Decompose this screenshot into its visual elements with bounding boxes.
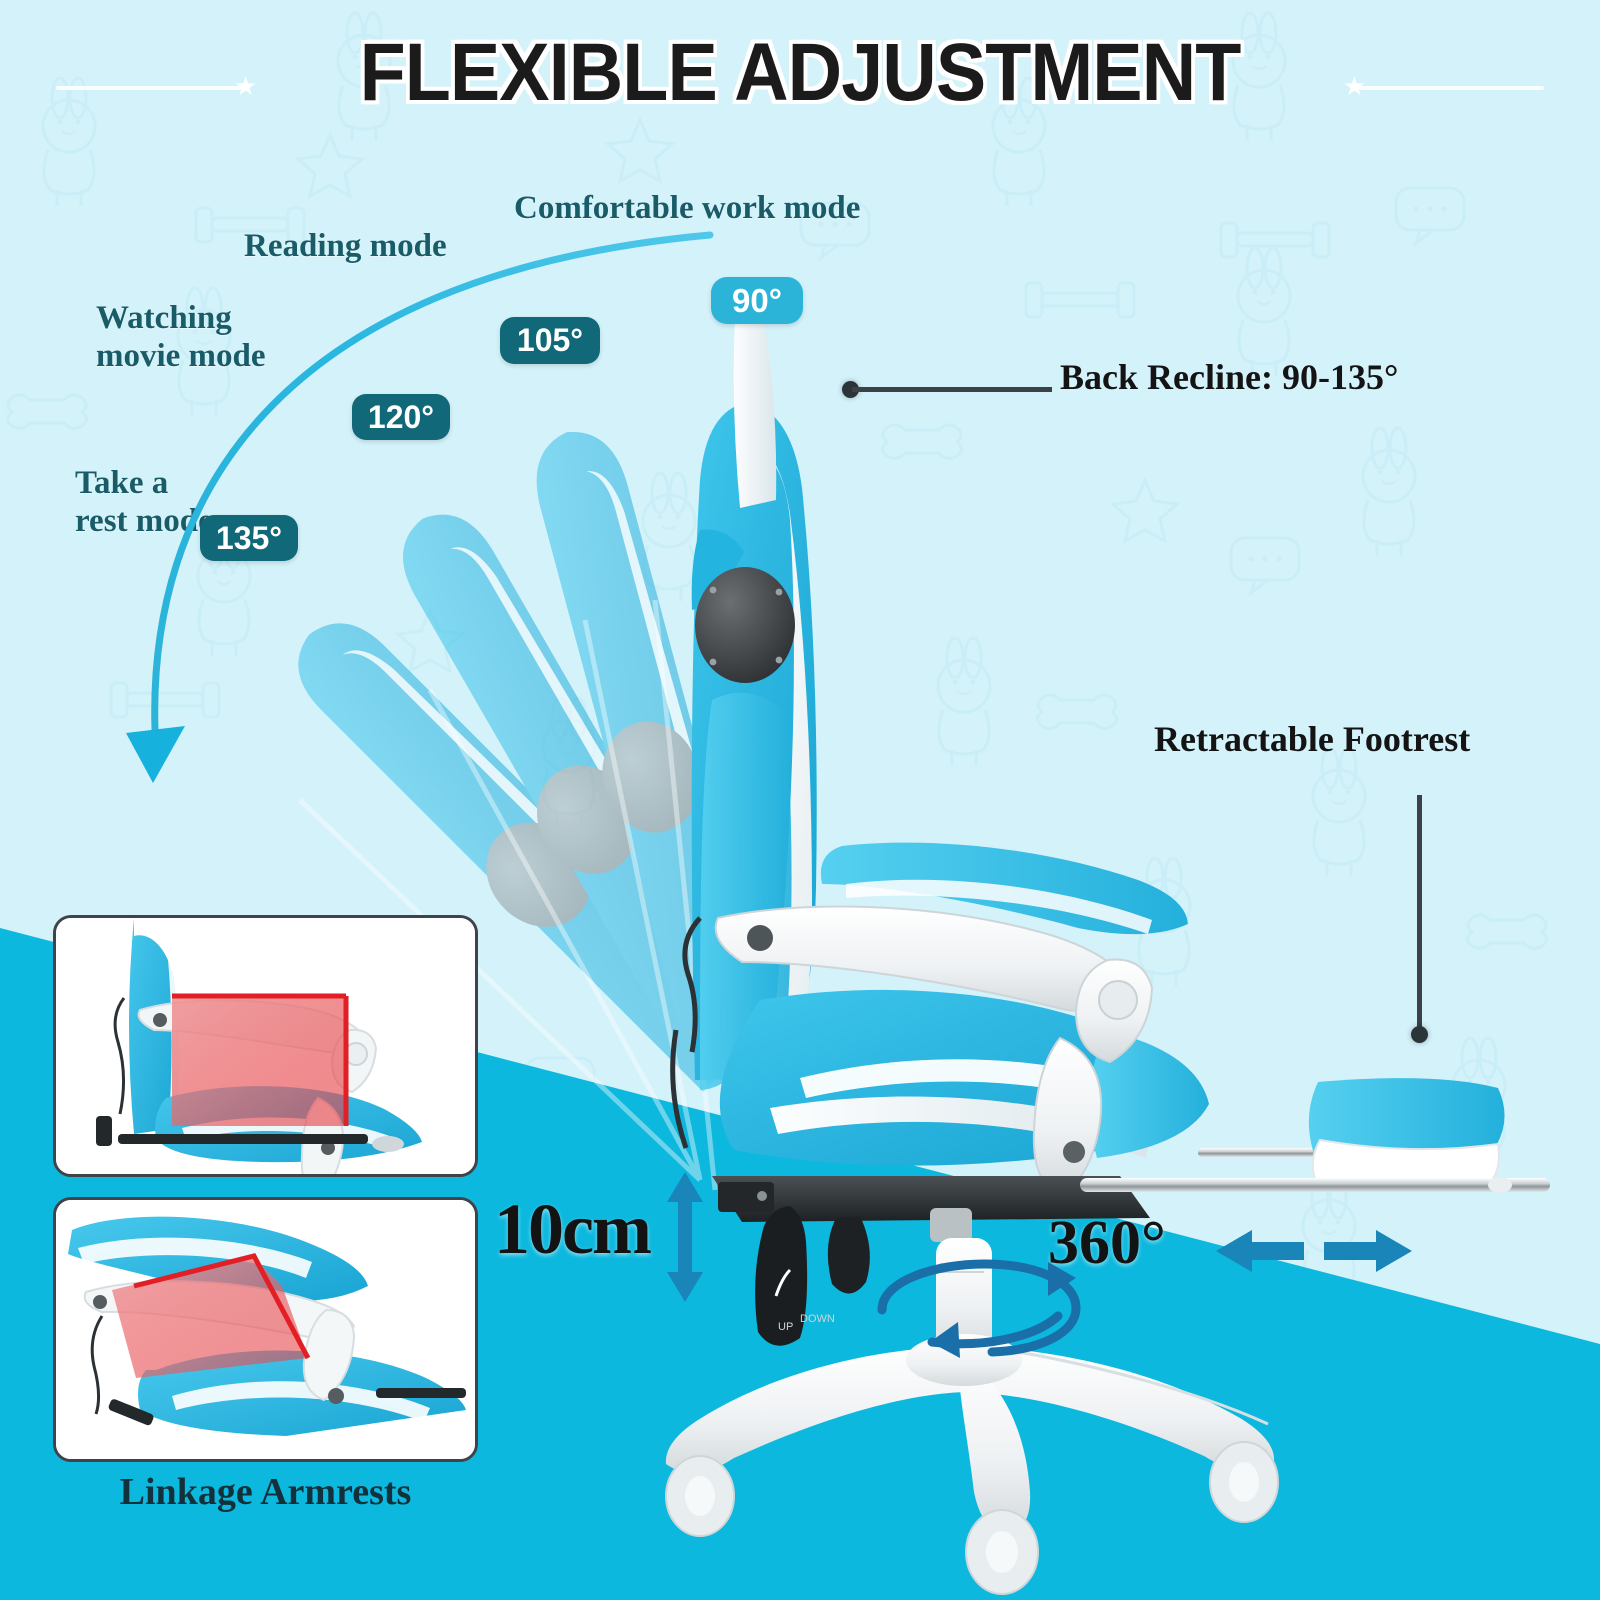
svg-text:UP: UP bbox=[778, 1321, 793, 1333]
arrow-up-down-icon bbox=[660, 1172, 710, 1302]
massage-motor-pad bbox=[695, 567, 795, 683]
callout-footrest-label: Retractable Footrest bbox=[1154, 719, 1470, 759]
inset-caption-linkage-armrests: Linkage Armrests bbox=[53, 1470, 478, 1514]
inset-armrest-detail-top bbox=[53, 915, 478, 1177]
caster-wheel bbox=[1210, 1442, 1278, 1522]
angle-badge-135[interactable]: 135° bbox=[200, 515, 298, 561]
inset-2-illustration bbox=[56, 1200, 478, 1462]
caster-wheel bbox=[966, 1510, 1038, 1594]
callout-back-recline-label: Back Recline: 90-135° bbox=[1060, 357, 1398, 397]
svg-text:DOWN: DOWN bbox=[800, 1313, 835, 1325]
rotation-360-icon bbox=[862, 1258, 1092, 1366]
inset-1-illustration bbox=[56, 918, 478, 1177]
leader-dot-footrest bbox=[1411, 1026, 1428, 1043]
chair-backrest bbox=[692, 402, 817, 1090]
callout-back-recline: Back Recline: 90-135° bbox=[1054, 356, 1404, 400]
inset-armrest-detail-bottom bbox=[53, 1197, 478, 1462]
leader-line-back-recline bbox=[852, 387, 1052, 392]
chair-base bbox=[666, 1334, 1278, 1594]
angle-badge-90[interactable]: 90° bbox=[711, 277, 803, 324]
dimension-label-seat-height: 10cm bbox=[494, 1188, 650, 1271]
caster-wheel bbox=[666, 1456, 734, 1536]
leader-line-footrest bbox=[1417, 795, 1422, 1028]
arrow-left-right-icon bbox=[1216, 1228, 1412, 1274]
angle-badge-120[interactable]: 120° bbox=[352, 394, 450, 440]
angle-badge-105[interactable]: 105° bbox=[500, 317, 600, 364]
callout-retractable-footrest: Retractable Footrest bbox=[1148, 718, 1476, 762]
infographic-stage: ★ ★ FLEXIBLE ADJUSTMENT Comfortable work… bbox=[0, 0, 1600, 1600]
